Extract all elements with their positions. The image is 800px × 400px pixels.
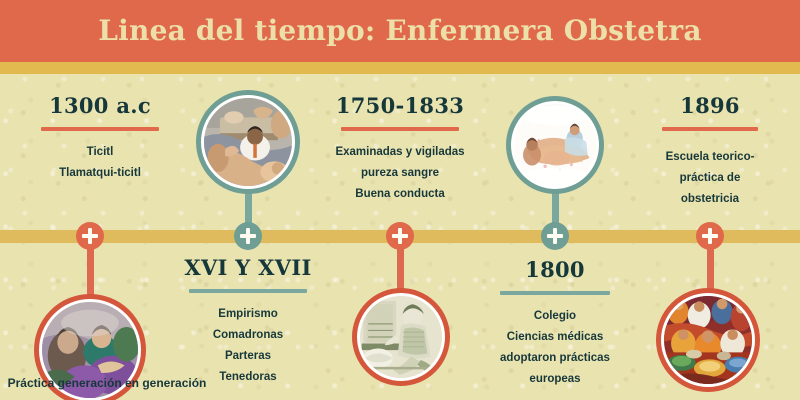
- entry-line: Empirismo: [148, 304, 348, 325]
- entry-rule: [41, 127, 159, 131]
- timeline-entry-1750-1833: 1750-1833 Examinadas y vigiladas pureza …: [300, 94, 500, 205]
- entry-rule: [500, 291, 610, 295]
- entry-line: pureza sangre: [300, 163, 500, 184]
- timeline-image-1750-1833[interactable]: [352, 288, 450, 386]
- entry-line: Colegio: [455, 306, 655, 327]
- entry-line: Tenedoras: [148, 367, 348, 388]
- entry-line: Ciencias médicas: [455, 327, 655, 348]
- entry-line: adoptaron prácticas: [455, 348, 655, 369]
- plus-icon: [398, 228, 402, 244]
- plus-icon: [246, 228, 250, 244]
- entry-year: 1300 a.c: [0, 94, 200, 118]
- plus-icon: [88, 228, 92, 244]
- entry-line: Comadronas: [148, 325, 348, 346]
- entry-year: 1896: [615, 94, 800, 118]
- mural-escena-parto-image: [204, 98, 292, 186]
- entry-line: europeas: [455, 369, 655, 390]
- entry-rule: [341, 127, 459, 131]
- mural-mercado-image: [664, 296, 752, 384]
- page-title: Linea del tiempo: Enfermera Obstetra: [0, 0, 800, 62]
- entry-year: XVI Y XVII: [148, 256, 348, 280]
- timeline-entry-1300-ac: 1300 a.c Ticitl Tlamatqui-ticitl: [0, 94, 200, 184]
- timeline-infographic: Linea del tiempo: Enfermera Obstetra 130…: [0, 0, 800, 400]
- plus-icon: [553, 228, 557, 244]
- entry-line: práctica de: [615, 168, 800, 189]
- timeline-marker-1300-ac[interactable]: [76, 222, 104, 250]
- plus-icon: [708, 228, 712, 244]
- entry-year: 1800: [455, 258, 655, 282]
- ilustracion-nacimiento-image: [514, 104, 596, 186]
- entry-rule: [189, 289, 307, 293]
- header-accent-stripe: [0, 62, 800, 74]
- entry-line: Ticitl: [0, 142, 200, 163]
- timeline-marker-1896[interactable]: [696, 222, 724, 250]
- timeline-image-1800[interactable]: [506, 96, 604, 194]
- timeline-marker-1750-1833[interactable]: [386, 222, 414, 250]
- entry-rule: [662, 127, 758, 131]
- entry-line: Escuela teorico-: [615, 147, 800, 168]
- grabado-comadrona-antigua-image: [360, 296, 442, 378]
- timeline-marker-1800[interactable]: [541, 222, 569, 250]
- entry-line: Parteras: [148, 346, 348, 367]
- entry-year: 1750-1833: [300, 94, 500, 118]
- timeline-image-1896[interactable]: [656, 288, 760, 392]
- timeline-entry-xvi-xvii: XVI Y XVII Empirismo Comadronas Parteras…: [148, 256, 348, 388]
- entry-line: Examinadas y vigiladas: [300, 142, 500, 163]
- timeline-entry-1896: 1896 Escuela teorico- práctica de obstet…: [615, 94, 800, 210]
- timeline-entry-1800: 1800 Colegio Ciencias médicas adoptaron …: [455, 258, 655, 390]
- timeline-marker-xvi-xvii[interactable]: [234, 222, 262, 250]
- timeline-image-xvi-xvii[interactable]: [196, 90, 300, 194]
- entry-line: obstetricia: [615, 189, 800, 210]
- entry-line: Tlamatqui-ticitl: [0, 163, 200, 184]
- entry-line: Buena conducta: [300, 184, 500, 205]
